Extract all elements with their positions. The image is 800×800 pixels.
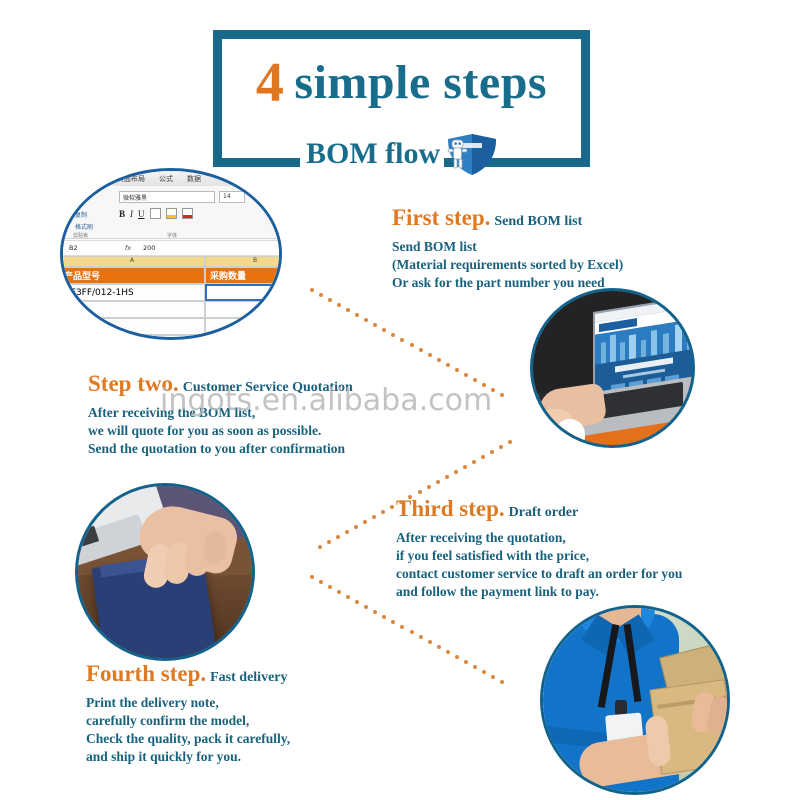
connector-dot [355,600,359,604]
column-header-a[interactable]: A [63,256,205,267]
step-block-first: First step. Send BOM list Send BOM list … [392,206,623,292]
connector-dot [437,358,441,362]
step-subtitle: Send BOM list [494,214,582,229]
ribbon-tab-data[interactable]: 数据 [187,174,201,184]
connector-dot [508,440,512,444]
connector-dot [482,383,486,387]
photo-circle-notebook [75,483,255,661]
font-group-label: 字体 [167,232,177,239]
connector-dot [337,590,341,594]
connector-dot [500,680,504,684]
robot-shield-icon [442,131,502,177]
cell-empty-a5[interactable] [63,335,205,337]
connector-dot [336,535,340,539]
connector-dot [337,303,341,307]
connector-dot [364,605,368,609]
subtitle-group: BOM flow [300,135,502,173]
connector-dot [382,615,386,619]
step-subtitle: Fast delivery [210,670,287,685]
step-title: Step two. [88,371,179,396]
page-subtitle: BOM flow [300,139,444,169]
step-line: (Material requirements sorted by Excel) [392,256,623,274]
connector-dots-third-to-fourth [310,575,510,685]
connector-dot [455,368,459,372]
table-row: 3 [63,301,279,318]
excel-screenshot: 插入 页面布局 公式 数据 复制 格式刷 剪贴板 字体 微软雅黑 14 A A … [63,171,279,337]
cell-empty-b4[interactable] [205,318,279,335]
connector-dot [419,348,423,352]
bold-button[interactable]: B [119,209,125,219]
connector-dot [355,313,359,317]
connector-dot [472,460,476,464]
connector-dot [428,640,432,644]
connector-dot [327,540,331,544]
copy-button[interactable]: 复制 [75,210,87,219]
connector-dot [346,308,350,312]
step-line: carefully confirm the model, [86,712,290,730]
connector-dot [455,655,459,659]
ribbon-tab-insert[interactable]: 插入 [89,174,103,184]
photo-circle-delivery [540,605,730,795]
connector-dot [363,520,367,524]
connector-dot [391,333,395,337]
step-body: After receiving the BOM list, we will qu… [88,404,353,458]
connector-dot [354,525,358,529]
font-style-buttons: B I U [119,208,193,219]
step-block-fourth: Fourth step. Fast delivery Print the del… [86,662,290,766]
connector-dot [437,645,441,649]
connector-dot [319,293,323,297]
connector-dot [454,470,458,474]
step-line: Print the delivery note, [86,694,290,712]
excel-formula-bar: B2 fx 200 [63,240,279,256]
connector-dot [482,670,486,674]
step-subtitle: Draft order [509,505,579,520]
connector-dot [446,650,450,654]
connector-dot [436,480,440,484]
connector-dot [390,505,394,509]
connector-dot [427,485,431,489]
connector-dots-second-to-third [318,440,518,550]
connector-dot [418,490,422,494]
excel-column-headers: A B [63,256,279,267]
connector-dot [464,373,468,377]
connector-dot [419,635,423,639]
connector-dot [346,595,350,599]
step-title: First step. [392,205,490,230]
step-line: After receiving the BOM list, [88,404,353,422]
step-heading: Fourth step. Fast delivery [86,662,290,685]
increase-font-icon[interactable]: A [251,191,257,200]
connector-dot [481,455,485,459]
connector-dot [473,378,477,382]
connector-dot [499,445,503,449]
connector-dot [373,323,377,327]
connector-dot [408,495,412,499]
step-title: Fourth step. [86,661,206,686]
fx-icon[interactable]: fx [113,244,143,252]
connector-dot [399,500,403,504]
delivery-photo [543,608,727,792]
connector-dot [410,630,414,634]
connector-dot [491,675,495,679]
step-line: Check the quality, pack it carefully, [86,730,290,748]
step-heading: First step. Send BOM list [392,206,623,229]
laptop-photo [533,291,692,445]
connector-dot [445,475,449,479]
connector-dot [391,620,395,624]
italic-button[interactable]: I [130,209,133,219]
name-box[interactable]: B2 [63,244,113,252]
cell-empty-b5[interactable] [205,335,279,337]
step-count-number: 4 [256,55,295,111]
connector-dot [400,625,404,629]
connector-dot [490,450,494,454]
step-line: and ship it quickly for you. [86,748,290,766]
connector-dot [473,665,477,669]
ribbon-tab-formula[interactable]: 公式 [159,174,173,184]
page-title-words: simple steps [294,59,547,107]
excel-ribbon-tabs: 插入 页面布局 公式 数据 [75,171,279,186]
font-name-select[interactable]: 微软雅黑 [119,191,215,203]
connector-dot [318,545,322,549]
cell-header-model[interactable]: 产品型号 [63,267,205,284]
connector-dot [410,343,414,347]
connector-dot [328,585,332,589]
cell-empty-b3[interactable] [205,301,279,318]
step-line: we will quote for you as soon as possibl… [88,422,353,440]
formula-input[interactable]: 200 [143,244,155,252]
photo-circle-laptop [530,288,695,448]
table-row [63,335,279,337]
connector-dot [500,393,504,397]
connector-dot [382,328,386,332]
font-size-select[interactable]: 14 [219,191,245,203]
cell-model-value[interactable]: HF3FF/012-1HS [63,284,205,301]
connector-dot [428,353,432,357]
step-line: Send the quotation to you after confirma… [88,440,353,458]
decrease-font-icon[interactable]: A [263,193,267,199]
connector-dots-first-to-second [310,288,510,398]
connector-dot [400,338,404,342]
table-row [63,318,279,335]
column-header-b[interactable]: B [205,256,279,267]
cell-header-qty[interactable]: 采购数量 [205,267,279,284]
infographic-canvas: 4 simple steps BOM flow [0,0,800,800]
fill-color-button[interactable] [166,208,177,219]
connector-dot [491,388,495,392]
format-painter-button[interactable]: 格式刷 [75,222,93,231]
page-title: 4 simple steps [213,48,590,118]
photo-circle-excel: 插入 页面布局 公式 数据 复制 格式刷 剪贴板 字体 微软雅黑 14 A A … [60,168,282,340]
excel-ribbon: 复制 格式刷 剪贴板 字体 微软雅黑 14 A A B I U [63,186,279,239]
notebook-photo [78,486,252,658]
connector-dot [345,530,349,534]
connector-dot [381,510,385,514]
connector-dot [446,363,450,367]
step-body: Print the delivery note, carefully confi… [86,694,290,766]
border-button[interactable] [150,208,161,219]
cell-qty-value[interactable]: 200 [205,284,279,301]
step-body: Send BOM list (Material requirements sor… [392,238,623,292]
connector-dot [372,515,376,519]
connector-dot [364,318,368,322]
connector-dot [319,580,323,584]
font-color-button[interactable] [182,208,193,219]
connector-dot [463,465,467,469]
connector-dot [328,298,332,302]
clipboard-group-label: 剪贴板 [73,232,88,239]
connector-dot [310,575,314,579]
table-row: 1 产品型号 采购数量 [63,267,279,284]
cell-empty-a4[interactable] [63,318,205,335]
connector-dot [310,288,314,292]
ribbon-tab-layout[interactable]: 页面布局 [117,174,145,184]
connector-dot [464,660,468,664]
step-line: Send BOM list [392,238,623,256]
underline-button[interactable]: U [138,209,145,219]
cell-empty-a3[interactable] [63,301,205,318]
connector-dot [373,610,377,614]
table-row: 2 HF3FF/012-1HS 200 [63,284,279,301]
